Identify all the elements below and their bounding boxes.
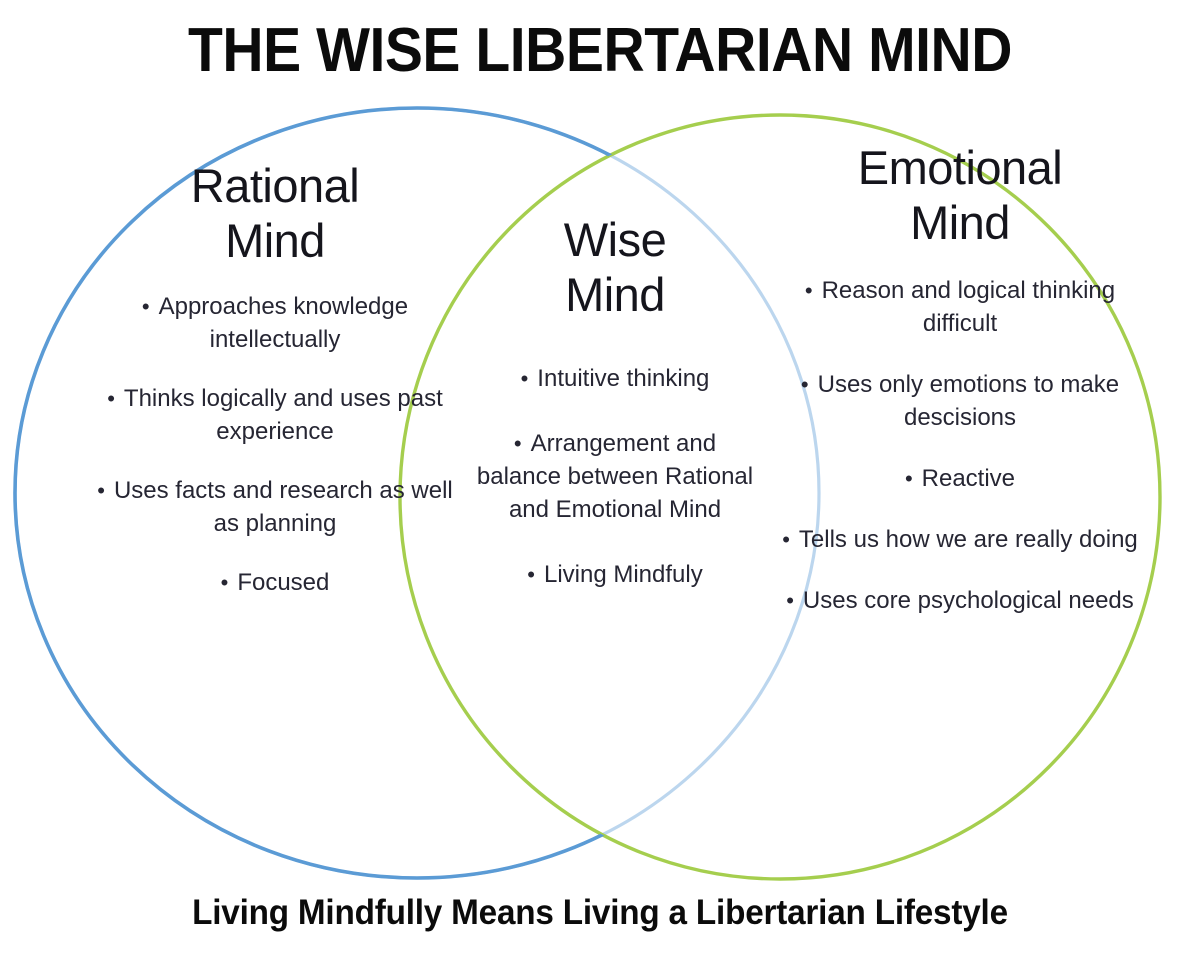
emotional-mind-heading-line-1: Emotional [770,140,1150,195]
rational-mind-heading-line-2: Mind [95,213,455,268]
wise-mind-heading-line-2: Mind [470,267,760,322]
list-item: •Uses only emotions to make descisions [770,368,1150,434]
region-rational-mind: Rational Mind •Approaches knowledge inte… [95,158,455,625]
list-item: •Reason and logical thinking difficult [770,274,1150,340]
emotional-mind-heading: Emotional Mind [770,140,1150,250]
bullet-icon: • [782,527,790,552]
emotional-mind-bullet-list: •Reason and logical thinking difficult •… [770,274,1150,617]
list-item-text: Uses only emotions to make descisions [818,371,1119,431]
list-item-text: Focused [237,569,329,596]
bullet-icon: • [801,372,809,397]
list-item: •Thinks logically and uses past experien… [95,382,455,448]
list-item: •Approaches knowledge intellectually [95,290,455,356]
list-item: •Tells us how we are really doing [770,523,1150,556]
bullet-icon: • [97,478,105,503]
list-item-text: Tells us how we are really doing [799,526,1138,553]
venn-diagram-page: THE WISE LIBERTARIAN MIND Rational Mind … [0,0,1200,960]
wise-mind-bullet-list: •Intuitive thinking •Arrangement and bal… [470,362,760,591]
list-item: •Arrangement and balance between Rationa… [470,427,760,526]
bullet-icon: • [521,366,529,391]
list-item-text: Approaches knowledge intellectually [159,293,409,353]
bullet-icon: • [221,570,229,595]
bullet-icon: • [905,466,913,491]
list-item-text: Thinks logically and uses past experienc… [124,385,443,445]
list-item: •Focused [95,566,455,599]
rational-mind-heading: Rational Mind [95,158,455,268]
list-item-text: Uses facts and research as well as plann… [114,477,453,537]
list-item: •Uses facts and research as well as plan… [95,474,455,540]
wise-mind-heading: Wise Mind [470,212,760,322]
rational-mind-bullet-list: •Approaches knowledge intellectually •Th… [95,290,455,599]
list-item-text: Living Mindfuly [544,561,703,588]
list-item-text: Intuitive thinking [537,365,709,392]
region-wise-mind: Wise Mind •Intuitive thinking •Arrangeme… [470,212,760,623]
list-item-text: Reactive [922,465,1015,492]
rational-mind-heading-line-1: Rational [95,158,455,213]
footer-caption: Living Mindfully Means Living a Libertar… [30,893,1170,933]
region-emotional-mind: Emotional Mind •Reason and logical think… [770,140,1150,645]
list-item-text: Reason and logical thinking difficult [822,277,1116,337]
bullet-icon: • [805,278,813,303]
list-item: •Living Mindfuly [470,558,760,591]
list-item-text: Uses core psychological needs [803,587,1134,614]
list-item: •Reactive [770,462,1150,495]
bullet-icon: • [142,294,150,319]
bullet-icon: • [527,562,535,587]
bullet-icon: • [107,386,115,411]
emotional-mind-heading-line-2: Mind [770,195,1150,250]
list-item: •Intuitive thinking [470,362,760,395]
wise-mind-heading-line-1: Wise [470,212,760,267]
list-item: •Uses core psychological needs [770,584,1150,617]
bullet-icon: • [786,588,794,613]
bullet-icon: • [514,431,522,456]
